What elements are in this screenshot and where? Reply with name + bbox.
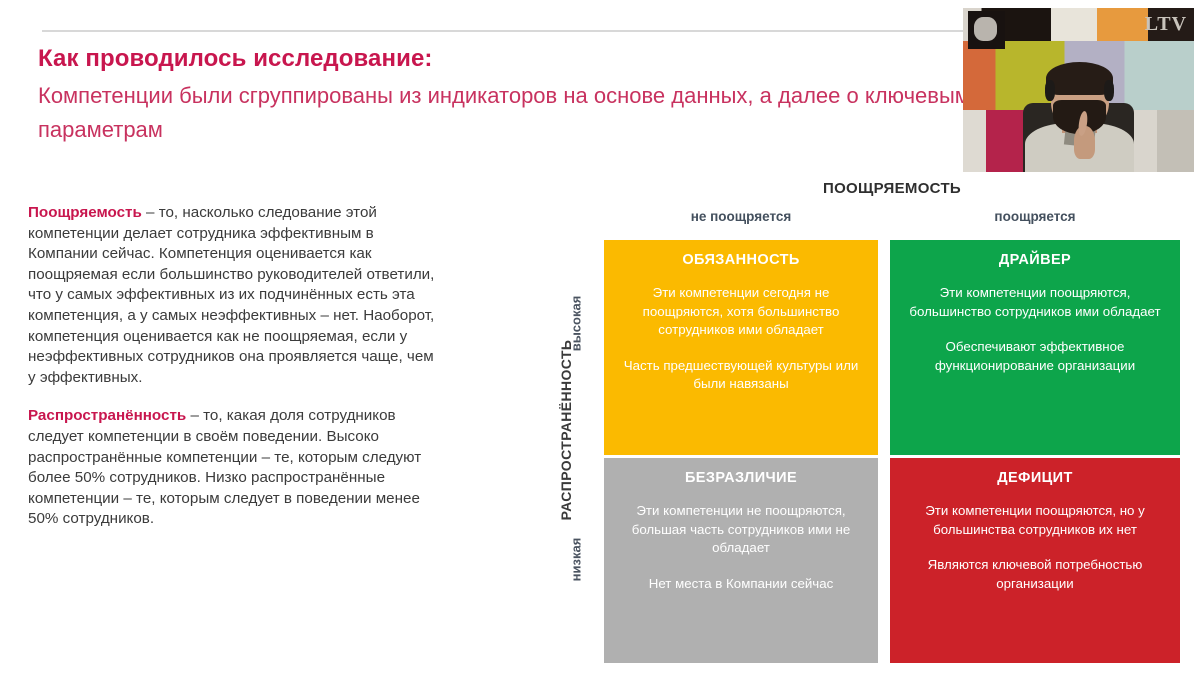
quadrant-title-obligation: ОБЯЗАННОСТЬ (618, 252, 864, 268)
quadrant-title-indifference: БЕЗРАЗЛИЧИЕ (618, 470, 864, 486)
webcam-wall-poster (968, 11, 1005, 49)
matrix-y-axis-low-label: низкая (569, 500, 584, 620)
definition-text-encouragement: – то, насколько следование этой компетен… (28, 204, 434, 386)
page-subtitle: Компетенции были сгруппированы из индика… (38, 79, 1048, 147)
matrix-y-axis-high-label: высокая (569, 264, 584, 384)
definition-paragraph-encouragement: Поощряемость – то, насколько следование … (28, 203, 438, 388)
definition-term-prevalence: Распространённость (28, 407, 186, 424)
matrix-y-axis: РАСПРОСТРАНЁННОСТЬ высокая низкая (534, 240, 596, 664)
matrix-quadrant-driver[interactable]: ДРАЙВЕР Эти компетенции поощряются, боль… (890, 240, 1180, 455)
definitions-column: Поощряемость – то, насколько следование … (28, 203, 438, 530)
webcam-poster-face (974, 17, 997, 41)
page-title: Как проводилось исследование: (38, 42, 1098, 76)
definition-term-encouragement: Поощряемость (28, 204, 142, 221)
webcam-headphone-left-icon (1045, 80, 1055, 101)
webcam-poster-text: LTV (1145, 13, 1187, 36)
webcam-video-overlay[interactable]: LTV (963, 8, 1194, 172)
quadrant-body-obligation-1: Эти компетенции сегодня не поощряются, х… (618, 284, 864, 340)
definition-paragraph-prevalence: Распространённость – то, какая доля сотр… (28, 406, 438, 530)
definition-text-prevalence: – то, какая доля сотрудников следует ком… (28, 407, 421, 527)
matrix-quadrant-deficit[interactable]: ДЕФИЦИТ Эти компетенции поощряются, но у… (890, 458, 1180, 663)
quadrant-title-driver: ДРАЙВЕР (904, 252, 1166, 268)
matrix-x-axis-title: ПООЩРЯЕМОСТЬ (604, 180, 1180, 197)
quadrant-body-indifference-1: Эти компетенции не поощряются, большая ч… (618, 502, 864, 558)
matrix-quadrant-obligation[interactable]: ОБЯЗАННОСТЬ Эти компетенции сегодня не п… (604, 240, 878, 455)
quadrant-body-driver-2: Обеспечивают эффективное функционировани… (904, 338, 1166, 375)
matrix-quadrant-indifference[interactable]: БЕЗРАЗЛИЧИЕ Эти компетенции не поощряютс… (604, 458, 878, 663)
quadrant-body-deficit-1: Эти компетенции поощряются, но у большин… (904, 502, 1166, 539)
matrix-x-axis-left-label: не поощряется (604, 209, 878, 224)
quadrant-body-indifference-2: Нет места в Компании сейчас (618, 575, 864, 594)
quadrant-body-obligation-2: Часть предшествующей культуры или были н… (618, 357, 864, 394)
matrix-x-axis-right-label: поощряется (890, 209, 1180, 224)
quadrant-body-deficit-2: Являются ключевой потребностью организац… (904, 556, 1166, 593)
webcam-headphone-right-icon (1104, 80, 1114, 101)
presentation-slide: Как проводилось исследование: Компетенци… (0, 0, 1200, 675)
quadrant-body-driver-1: Эти компетенции поощряются, большинство … (904, 284, 1166, 321)
quadrant-title-deficit: ДЕФИЦИТ (904, 470, 1166, 486)
slide-heading: Как проводилось исследование: Компетенци… (38, 42, 1098, 147)
